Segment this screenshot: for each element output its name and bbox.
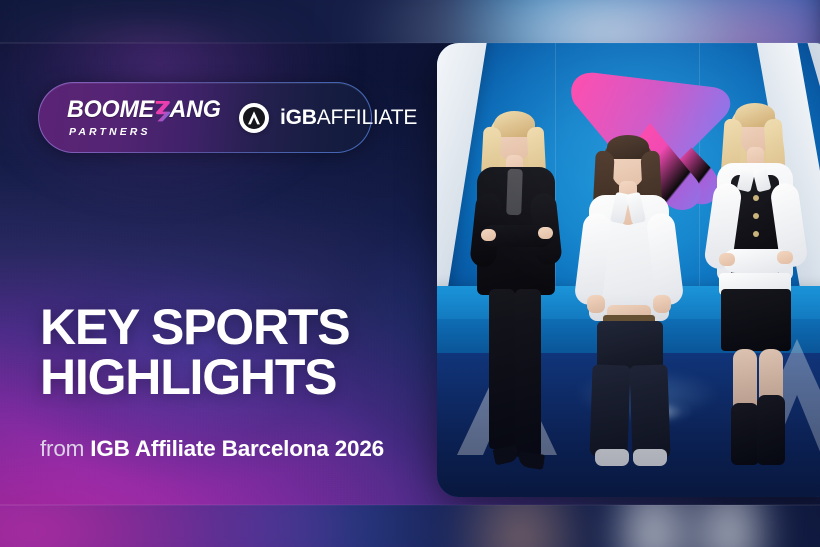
boomerang-r-icon bbox=[154, 98, 170, 122]
igb-wordmark: iGBAFFILIATE bbox=[280, 106, 417, 130]
igb-affiliate-logo: iGBAFFILIATE bbox=[239, 103, 417, 133]
igb-wordmark-bold: iGB bbox=[280, 106, 317, 129]
headline: KEY SPORTS HIGHLIGHTS bbox=[40, 303, 440, 402]
boomerang-tagline: PARTNERS bbox=[69, 127, 151, 138]
boomerang-partners-logo: BOOME ANG PARTNERS bbox=[67, 98, 203, 138]
boomerang-word-suffix: ANG bbox=[170, 96, 221, 123]
subheadline-prefix: from bbox=[40, 436, 90, 461]
promo-banner: BOOME ANG PARTNERS bbox=[0, 0, 820, 547]
subheadline-emphasis: IGB Affiliate Barcelona 2026 bbox=[90, 436, 384, 461]
headline-line-1: KEY SPORTS bbox=[40, 299, 349, 355]
subheadline: from IGB Affiliate Barcelona 2026 bbox=[40, 437, 470, 462]
bottom-reflection-band bbox=[0, 505, 820, 547]
brand-logo-pill[interactable]: BOOME ANG PARTNERS bbox=[38, 82, 372, 153]
boomerang-word-prefix: BOOME bbox=[67, 96, 154, 123]
top-reflection-band bbox=[0, 0, 820, 43]
top-band-edge bbox=[0, 42, 820, 44]
boomerang-wordmark: BOOME ANG bbox=[67, 98, 221, 122]
bottom-band-edge bbox=[0, 504, 820, 506]
event-photo bbox=[437, 43, 820, 497]
headline-line-2: HIGHLIGHTS bbox=[40, 353, 440, 403]
igb-mark-icon bbox=[239, 103, 269, 133]
igb-wordmark-light: AFFILIATE bbox=[317, 106, 418, 129]
